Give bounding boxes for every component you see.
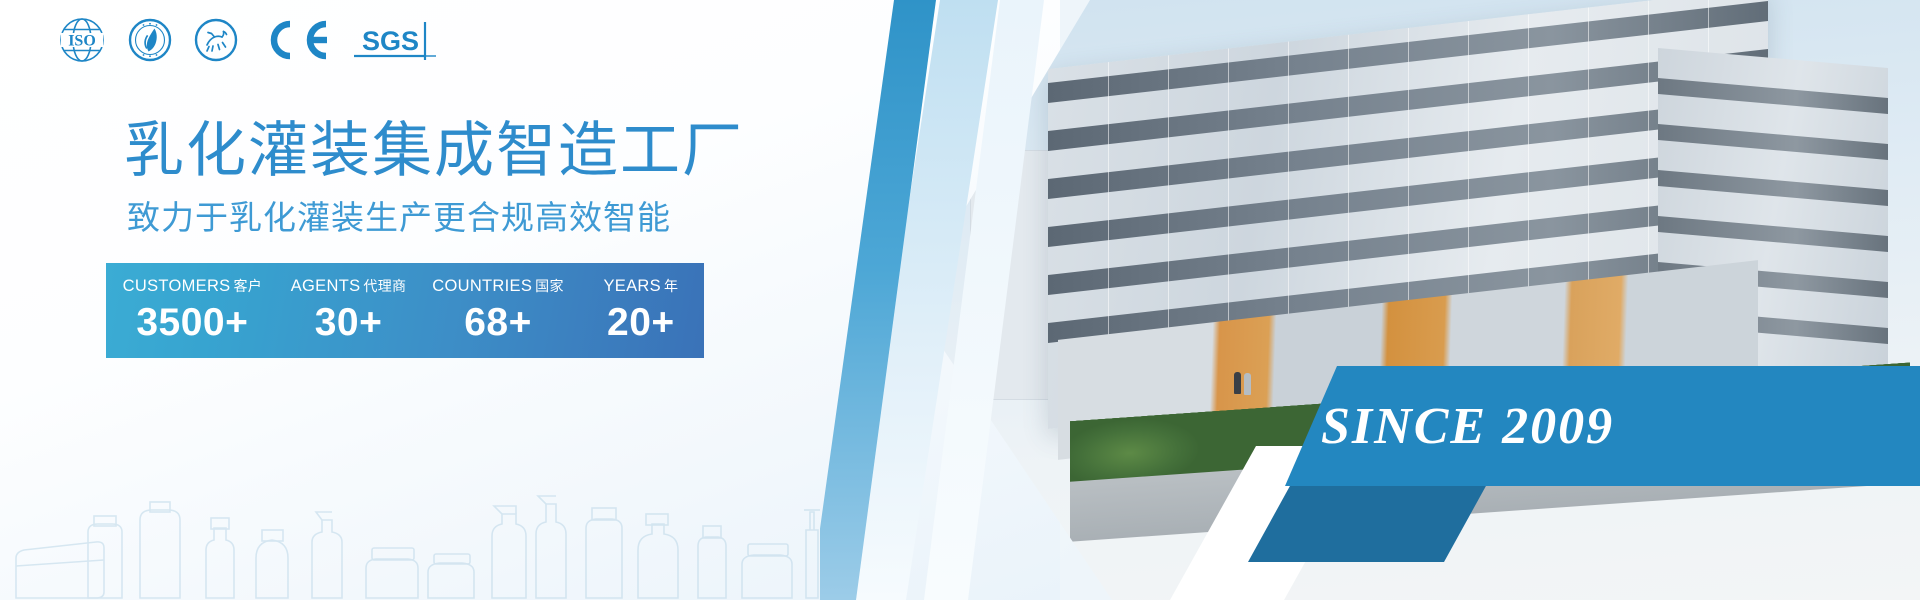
hero-banner: ISO (0, 0, 1920, 600)
page-subtitle: 致力于乳化灌装生产更合规高效智能 (127, 198, 671, 238)
stat-value-agents: 30+ (279, 303, 419, 344)
stat-value-wrap-years: 20+ (578, 303, 704, 344)
stat-label-customers: CUSTOMERS客户 (106, 276, 279, 296)
stat-column-countries: COUNTRIES国家 (418, 276, 577, 296)
stat-column-years: YEARS年 (578, 276, 704, 296)
since-banner-label: SINCE 2009 (1321, 397, 1614, 456)
svg-text:ISO: ISO (68, 33, 96, 50)
stat-value-customers: 3500+ (106, 303, 279, 344)
svg-text:SGS: SGS (362, 26, 419, 56)
certification-badge-row: ISO (58, 16, 438, 64)
stat-value-wrap-agents: 30+ (279, 303, 419, 344)
since-banner: SINCE 2009 (1285, 366, 1920, 486)
stat-value-years: 20+ (578, 303, 704, 344)
page-title: 乳化灌装集成智造工厂 (124, 118, 744, 184)
person-figure (1234, 372, 1241, 394)
stat-column-customers: CUSTOMERS客户 (106, 276, 279, 296)
stat-label-countries: COUNTRIES国家 (418, 276, 577, 296)
stat-value-wrap-countries: 68+ (418, 303, 577, 344)
stat-value-countries: 68+ (418, 303, 577, 344)
stat-column-agents: AGENTS代理商 (279, 276, 419, 296)
stat-value-wrap-customers: 3500+ (106, 303, 279, 344)
stats-label-row: CUSTOMERS客户 AGENTS代理商 COUNTRIES国家 YEARS年 (106, 276, 704, 296)
person-figure (1244, 373, 1251, 395)
ce-mark-icon (260, 18, 330, 62)
china-quality-badge-icon (128, 18, 172, 62)
stats-bar: CUSTOMERS客户 AGENTS代理商 COUNTRIES国家 YEARS年… (106, 263, 704, 358)
sgs-badge-icon: SGS (352, 16, 438, 64)
stats-value-row: 3500+ 30+ 68+ 20+ (106, 303, 704, 344)
stat-label-years: YEARS年 (578, 276, 704, 296)
stat-label-agents: AGENTS代理商 (279, 276, 419, 296)
deer-badge-icon (194, 18, 238, 62)
packaging-silhouettes-decoration (0, 480, 880, 600)
iso-badge-icon: ISO (58, 16, 106, 64)
